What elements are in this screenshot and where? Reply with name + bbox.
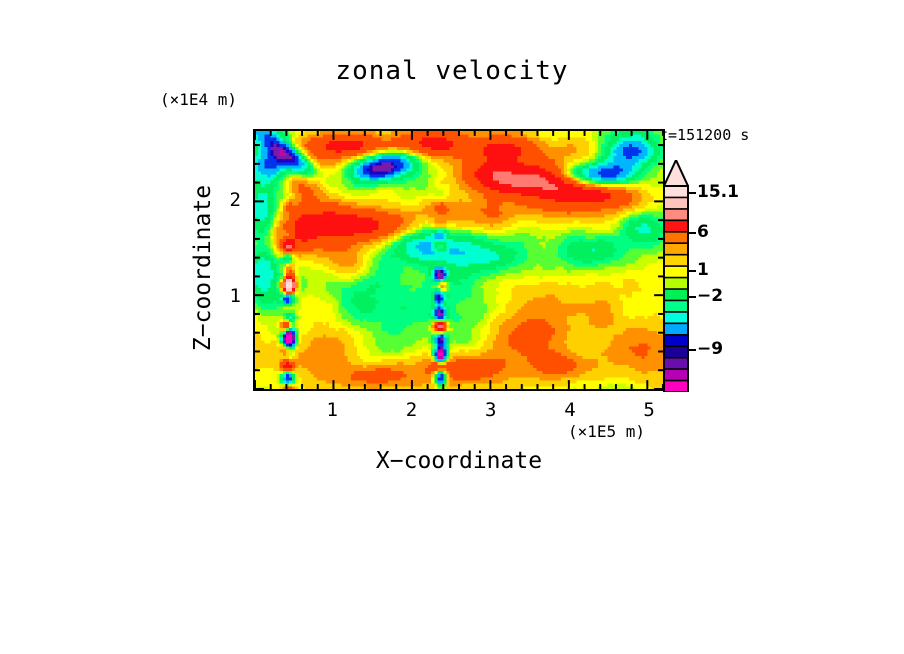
- colorbar-tick-label: −9: [697, 339, 723, 359]
- timestamp-annotation: t=151200 s: [659, 126, 749, 144]
- colorbar-tick-label: −2: [697, 286, 723, 306]
- x-tick-label: 2: [406, 399, 417, 421]
- colorbar-tick-mark: [689, 349, 696, 351]
- y-tick-label: 2: [219, 189, 241, 211]
- colorbar-tick-label: 6: [697, 222, 709, 242]
- contour-plot-panel: [253, 129, 665, 391]
- x-tick-label: 1: [326, 399, 337, 421]
- colorbar-tick-label: 1: [697, 260, 709, 280]
- x-tick-label: 5: [643, 399, 654, 421]
- colorbar-tick-mark: [689, 232, 696, 234]
- y-axis-title: Z−coordinate: [190, 58, 216, 478]
- colorbar-tick-mark: [689, 192, 696, 194]
- colorbar-swatches: [663, 160, 689, 392]
- colorbar-tick-mark: [689, 296, 696, 298]
- x-axis-unit-label: (×1E5 m): [568, 422, 645, 441]
- page-title: zonal velocity: [0, 56, 904, 86]
- colorbar: [663, 160, 689, 392]
- contour-field: [255, 131, 663, 389]
- colorbar-tick-label: 15.1: [697, 182, 739, 202]
- x-axis-title: X−coordinate: [253, 448, 665, 474]
- figure-canvas: zonal velocity (×1E4 m) t=151200 s 12345…: [0, 0, 904, 654]
- colorbar-tick-mark: [689, 270, 696, 272]
- x-tick-label: 3: [485, 399, 496, 421]
- x-tick-label: 4: [564, 399, 575, 421]
- y-tick-label: 1: [219, 285, 241, 307]
